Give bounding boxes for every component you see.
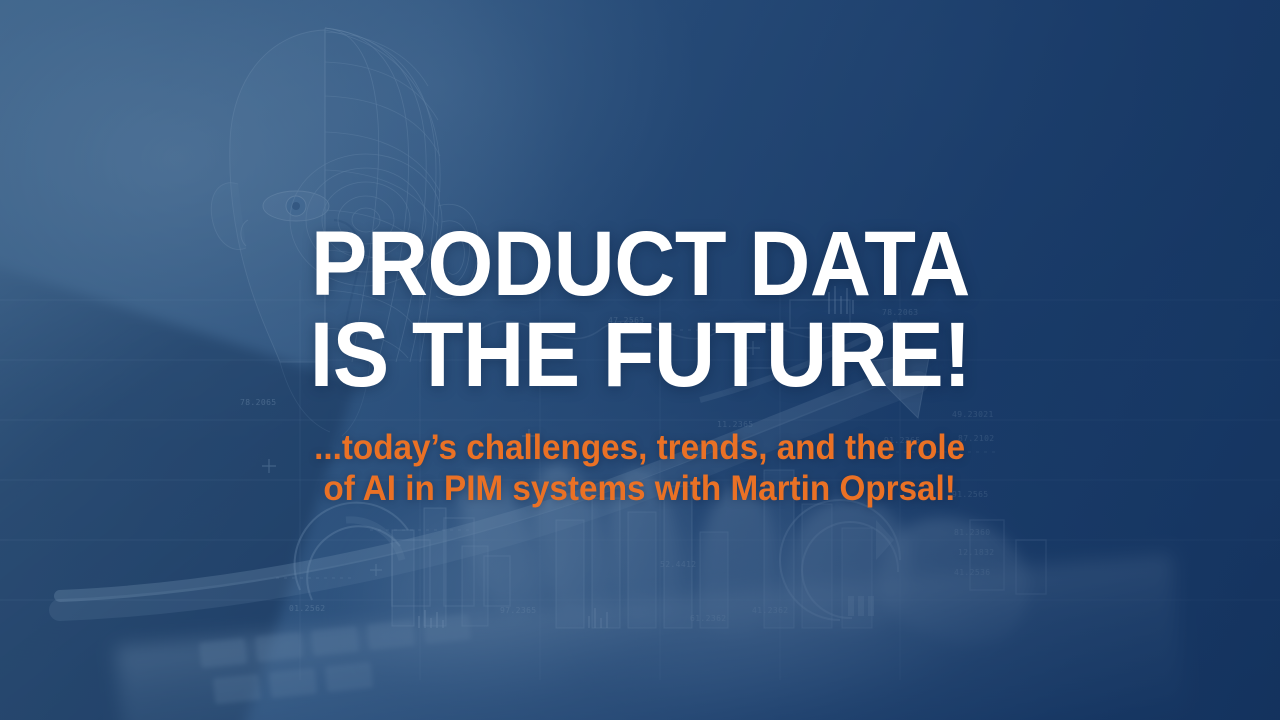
subtitle-line-2: of AI in PIM systems with Martin Oprsal! <box>314 468 965 509</box>
slide-text-content: PRODUCT DATA IS THE FUTURE! ...today’s c… <box>0 0 1280 720</box>
page-title: PRODUCT DATA IS THE FUTURE! <box>309 219 970 401</box>
subtitle-line-1: ...today’s challenges, trends, and the r… <box>314 427 965 468</box>
presentation-slide: 49.23021 87.2102 91.2565 81.2360 12.1832… <box>0 0 1280 720</box>
headline-line-2: IS THE FUTURE! <box>309 310 970 401</box>
page-subtitle: ...today’s challenges, trends, and the r… <box>314 427 965 510</box>
headline-line-1: PRODUCT DATA <box>309 219 970 310</box>
